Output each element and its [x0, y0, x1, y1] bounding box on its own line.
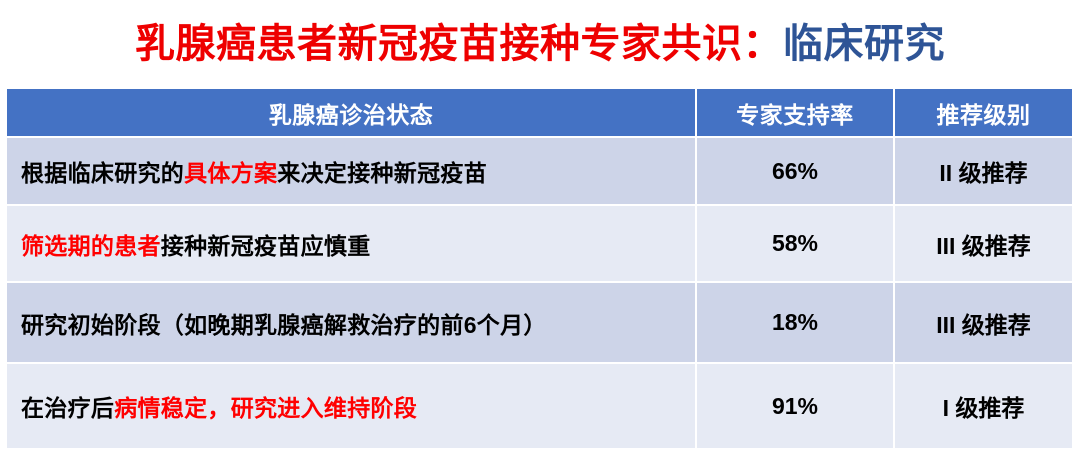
- status-text-segment: 在治疗后: [21, 395, 114, 421]
- table-row: 在治疗后病情稳定，研究进入维持阶段 91% I 级推荐: [6, 363, 1073, 449]
- cell-rate: 91%: [696, 363, 894, 449]
- consensus-table-container: 乳腺癌诊治状态 专家支持率 推荐级别 根据临床研究的具体方案来决定接种新冠疫苗 …: [5, 87, 1072, 445]
- cell-rate: 58%: [696, 205, 894, 282]
- status-text-segment: 具体方案: [184, 160, 277, 186]
- cell-rate: 18%: [696, 282, 894, 363]
- table-row: 根据临床研究的具体方案来决定接种新冠疫苗 66% II 级推荐: [6, 137, 1073, 205]
- table-header: 乳腺癌诊治状态 专家支持率 推荐级别: [6, 88, 1073, 137]
- column-header-rate: 专家支持率: [696, 88, 894, 137]
- status-text-segment: 根据临床研究的: [21, 160, 184, 186]
- cell-status: 筛选期的患者接种新冠疫苗应慎重: [6, 205, 696, 282]
- table-body: 根据临床研究的具体方案来决定接种新冠疫苗 66% II 级推荐 筛选期的患者接种…: [6, 137, 1073, 449]
- status-text-segment: 来决定接种新冠疫苗: [277, 160, 487, 186]
- status-text-segment: 筛选期的患者: [21, 233, 161, 259]
- cell-level: II 级推荐: [894, 137, 1073, 205]
- status-text-segment: 研究初始阶段（如晚期乳腺癌解救治疗的前6个月）: [21, 312, 547, 338]
- slide-page: 乳腺癌患者新冠疫苗接种专家共识：临床研究 乳腺癌诊治状态 专家支持率 推荐级别 …: [0, 0, 1080, 445]
- page-title-blue-part: 临床研究: [783, 11, 945, 69]
- page-title: 乳腺癌患者新冠疫苗接种专家共识：临床研究: [0, 4, 1080, 76]
- cell-status: 在治疗后病情稳定，研究进入维持阶段: [6, 363, 696, 449]
- consensus-table: 乳腺癌诊治状态 专家支持率 推荐级别 根据临床研究的具体方案来决定接种新冠疫苗 …: [5, 87, 1074, 450]
- table-row: 研究初始阶段（如晚期乳腺癌解救治疗的前6个月） 18% III 级推荐: [6, 282, 1073, 363]
- cell-rate: 66%: [696, 137, 894, 205]
- status-text-segment: 接种新冠疫苗应慎重: [161, 233, 371, 259]
- cell-status: 根据临床研究的具体方案来决定接种新冠疫苗: [6, 137, 696, 205]
- table-row: 筛选期的患者接种新冠疫苗应慎重 58% III 级推荐: [6, 205, 1073, 282]
- cell-level: I 级推荐: [894, 363, 1073, 449]
- cell-level: III 级推荐: [894, 282, 1073, 363]
- cell-status: 研究初始阶段（如晚期乳腺癌解救治疗的前6个月）: [6, 282, 696, 363]
- page-title-red-part: 乳腺癌患者新冠疫苗接种专家共识：: [135, 11, 783, 69]
- column-header-status: 乳腺癌诊治状态: [6, 88, 696, 137]
- table-header-row: 乳腺癌诊治状态 专家支持率 推荐级别: [6, 88, 1073, 137]
- cell-level: III 级推荐: [894, 205, 1073, 282]
- column-header-level: 推荐级别: [894, 88, 1073, 137]
- status-text-segment: 病情稳定，研究进入维持阶段: [114, 395, 417, 421]
